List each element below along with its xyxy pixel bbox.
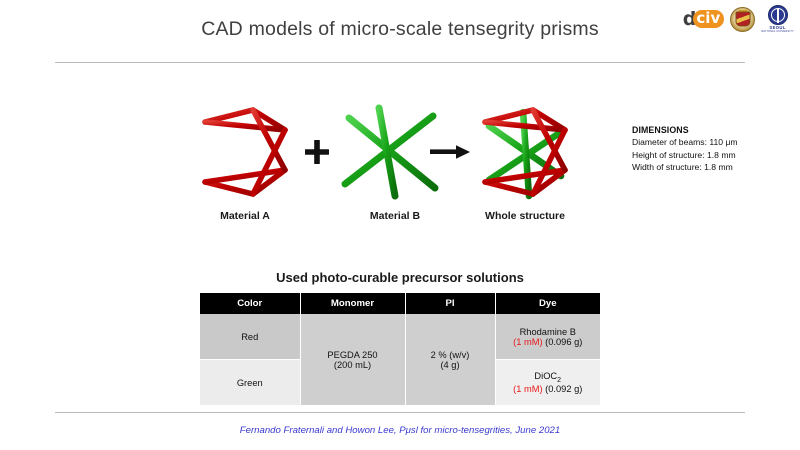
university-crest-logo [730,7,755,32]
page-title: CAD models of micro-scale tensegrity pri… [0,18,800,41]
precursor-solutions-table: Color Monomer PI Dye Red PEGDA 250 (200 … [200,293,600,406]
cell-monomer: PEGDA 250 (200 mL) [300,314,405,406]
dye-name-dioc2: DiOC2 [498,371,599,384]
dye-concentration-dioc2: (1 mM) [513,384,542,394]
slide-footer: Fernando Fraternali and Howon Lee, Pμsl … [0,425,800,436]
figure-label-material-b: Material B [335,210,455,222]
header-divider [55,62,745,63]
table-header-row: Color Monomer PI Dye [200,293,600,314]
whole-structure-figure [465,96,585,211]
table-header-dye: Dye [495,293,600,314]
dimensions-block: DIMENSIONS Diameter of beams: 110 μm Hei… [632,124,797,173]
dimensions-heading: DIMENSIONS [632,124,797,136]
cell-color-red: Red [200,314,300,360]
table-title: Used photo-curable precursor solutions [150,270,650,285]
assembled-tensegrity-prism-icon [465,96,585,211]
cell-dye-green: DiOC2 (1 mM) (0.092 g) [495,360,600,406]
cell-color-green: Green [200,360,300,406]
red-prism-cage-icon [185,96,305,211]
dye-concentration-rhodamine: (1 mM) [513,337,542,347]
cell-monomer-line2: (200 mL) [303,360,403,370]
figure-labels: Material A Material B Whole structure [185,210,605,228]
dciv-logo-badge: civ [693,10,724,28]
table-header-color: Color [200,293,300,314]
snu-logo-line2: NATIONAL UNIVERSITY [761,31,794,34]
material-a-figure [185,96,305,211]
arrow-operator-icon [430,142,470,162]
slide-canvas: CAD models of micro-scale tensegrity pri… [0,0,800,450]
plus-operator-icon [303,138,331,166]
cell-monomer-line1: PEGDA 250 [303,350,403,360]
cell-pi-line1: 2 % (w/v) [408,350,493,360]
dye-detail-dioc2: (1 mM) (0.092 g) [498,384,599,394]
dye-detail-rhodamine: (1 mM) (0.096 g) [498,337,599,347]
crest-shield-icon [735,12,750,27]
dye-mass-dioc2: (0.092 g) [545,384,582,394]
cell-pi-line2: (4 g) [408,360,493,370]
dimensions-line-height: Height of structure: 1.8 mm [632,149,797,161]
figure-label-whole-structure: Whole structure [457,210,593,222]
dimensions-line-width: Width of structure: 1.8 mm [632,161,797,173]
dye-name-dioc2-base: DiOC [534,371,557,381]
dye-mass-rhodamine: (0.096 g) [545,337,582,347]
dimensions-line-beam-diameter: Diameter of beams: 110 μm [632,136,797,148]
logo-group: d civ SEOUL NATIONAL UNIVERSITY [683,5,794,34]
footer-divider [55,412,745,413]
cell-dye-red: Rhodamine B (1 mM) (0.096 g) [495,314,600,360]
snu-emblem-icon [768,5,788,25]
table-row: Red PEGDA 250 (200 mL) 2 % (w/v) (4 g) R… [200,314,600,360]
figure-label-material-a: Material A [185,210,305,222]
cell-pi: 2 % (w/v) (4 g) [405,314,495,406]
table-header-pi: PI [405,293,495,314]
seoul-national-university-logo: SEOUL NATIONAL UNIVERSITY [761,5,794,34]
dye-name-rhodamine: Rhodamine B [498,327,599,337]
dye-name-dioc2-subscript: 2 [557,377,561,384]
dciv-logo: d civ [683,7,724,31]
table-header-monomer: Monomer [300,293,405,314]
